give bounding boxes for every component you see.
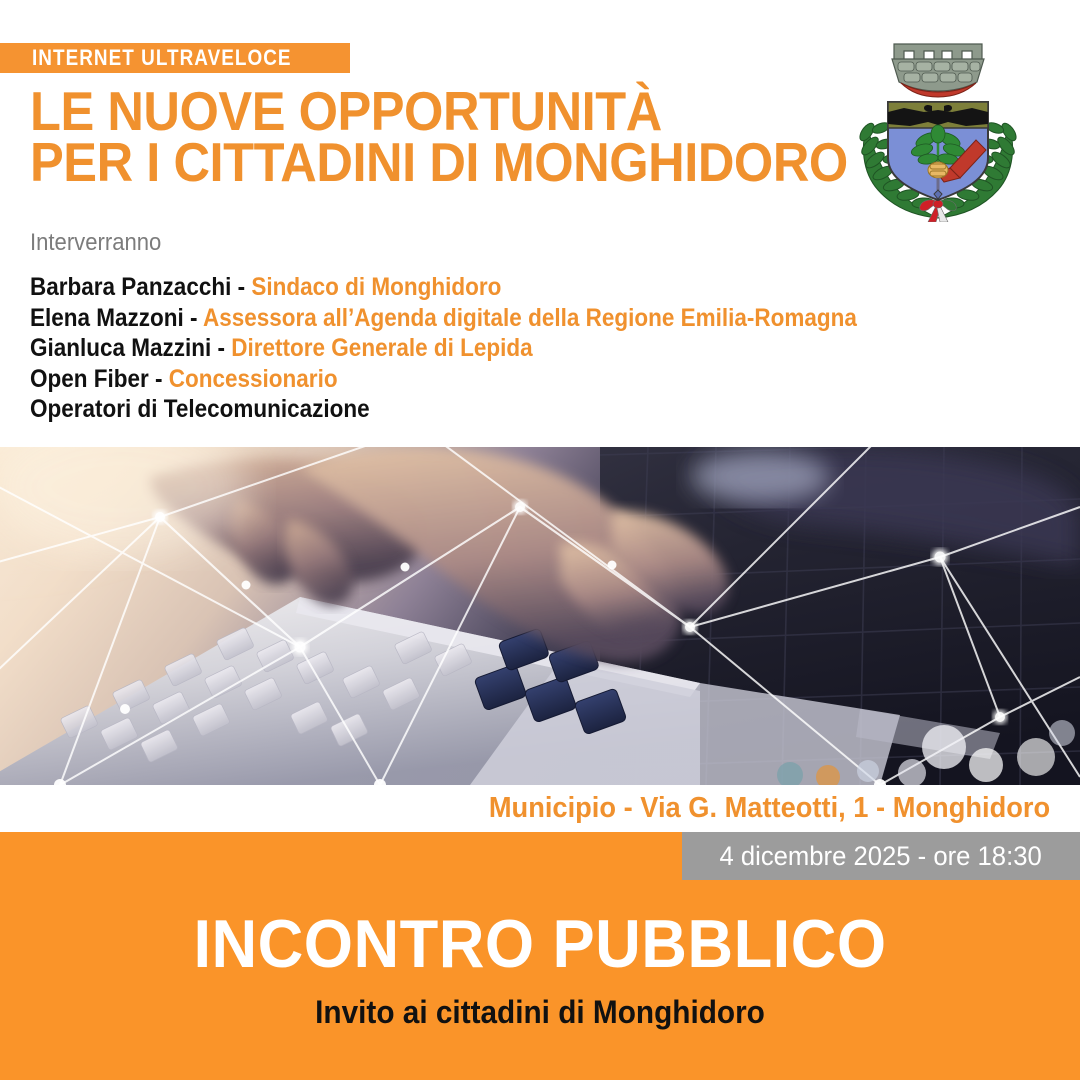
hero-photo [0,447,1080,785]
speaker-name: Barbara Panzacchi [30,273,231,301]
speaker-separator: - [231,273,251,301]
event-datetime: 4 dicembre 2025 - ore 18:30 [720,841,1042,872]
list-item: Elena Mazzoni - Assessora all’Agenda dig… [30,303,840,334]
speaker-name: Open Fiber [30,365,149,393]
speaker-role: Direttore Generale di Lepida [231,334,532,362]
speaker-role: Sindaco di Monghidoro [251,273,501,301]
poster-root: INTERNET ULTRAVELOCE LE NUOVE OPPORTUNIT… [0,0,1080,1080]
speaker-name: Operatori di Telecomunicazione [30,395,370,423]
speaker-separator: - [211,334,231,362]
list-item: Operatori di Telecomunicazione [30,394,840,425]
speaker-separator: - [149,365,169,393]
date-badge: 4 dicembre 2025 - ore 18:30 [682,832,1080,880]
footer-headline: INCONTRO PUBBLICO [38,908,1042,980]
footer-subtitle: Invito ai cittadini di Monghidoro [38,994,1042,1030]
speaker-role: Assessora all’Agenda digitale della Regi… [203,304,857,332]
speakers-list: Barbara Panzacchi - Sindaco di Monghidor… [30,272,930,425]
list-item: Open Fiber - Concessionario [30,364,840,395]
speakers-intro-label: Interverranno [30,229,161,257]
title-line-2: PER I CITTADINI DI MONGHIDORO [30,137,794,188]
coat-of-arms-icon [854,32,1022,222]
page-title: LE NUOVE OPPORTUNITÀ PER I CITTADINI DI … [30,86,860,188]
title-line-1: LE NUOVE OPPORTUNITÀ [30,86,794,137]
list-item: Barbara Panzacchi - Sindaco di Monghidor… [30,272,840,303]
speaker-separator: - [184,304,203,332]
venue-address: Municipio - Via G. Matteotti, 1 - Monghi… [489,786,1050,831]
footer-content: INCONTRO PUBBLICO Invito ai cittadini di… [0,908,1080,1030]
kicker-badge: INTERNET ULTRAVELOCE [0,43,350,73]
speaker-role: Concessionario [169,365,338,393]
speaker-name: Elena Mazzoni [30,304,184,332]
list-item: Gianluca Mazzini - Direttore Generale di… [30,333,840,364]
speaker-name: Gianluca Mazzini [30,334,211,362]
header-section: INTERNET ULTRAVELOCE LE NUOVE OPPORTUNIT… [0,0,1080,447]
kicker-label: INTERNET ULTRAVELOCE [32,45,292,71]
